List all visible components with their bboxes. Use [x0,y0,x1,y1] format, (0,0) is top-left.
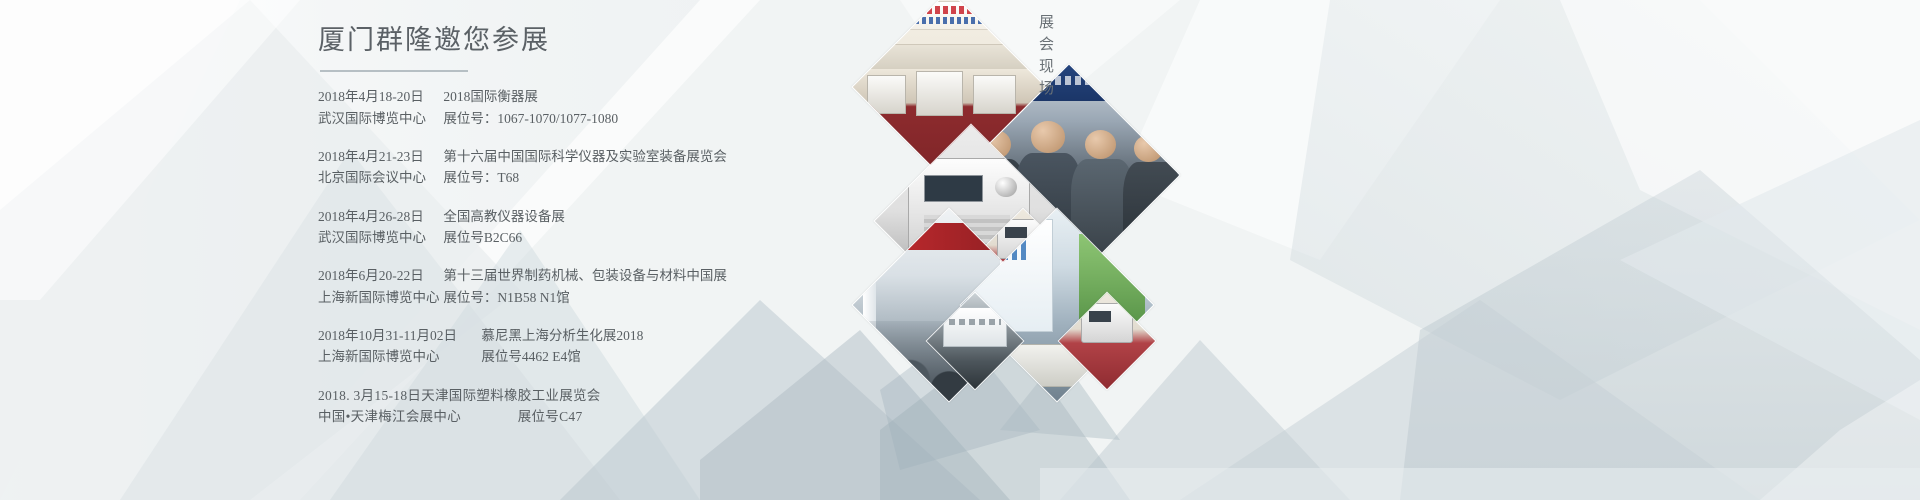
event-venue: 上海新国际博览中心 [318,346,478,367]
page-title: 厦门群隆邀您参展 [318,22,938,66]
event-name: 慕尼黑上海分析生化展2018 [481,325,643,346]
event-venue: 中国•天津梅江会展中心 [318,406,514,427]
event-line-date-name: 2018年4月26-28日 全国高教仪器设备展 [318,206,938,227]
event-name: 第十三届世界制药机械、包装设备与材料中国展 [443,265,727,286]
event-date: 2018年4月18-20日 [318,86,440,107]
event-line-venue-booth: 武汉国际博览中心 展位号：1067-1070/1077-1080 [318,108,938,129]
title-underline [320,70,468,72]
event-booth: 展位号：1067-1070/1077-1080 [443,108,618,129]
event-item: 2018年10月31-11月02日 慕尼黑上海分析生化展2018 上海新国际博览… [318,325,938,368]
event-item: 2018年4月26-28日 全国高教仪器设备展 武汉国际博览中心 展位号B2C6… [318,206,938,249]
event-item: 2018年4月18-20日 2018国际衡器展 武汉国际博览中心 展位号：106… [318,86,938,129]
events-text-column: 厦门群隆邀您参展 2018年4月18-20日 2018国际衡器展 武汉国际博览中… [318,22,938,444]
event-booth: 展位号B2C66 [443,227,522,248]
event-booth: 展位号4462 E4馆 [481,346,580,367]
event-line-date-name: 2018年4月18-20日 2018国际衡器展 [318,86,938,107]
event-date: 2018年4月26-28日 [318,206,440,227]
vertical-caption: 展会现场 [1035,14,1056,102]
event-line-date-name: 2018年6月20-22日 第十三届世界制药机械、包装设备与材料中国展 [318,265,938,286]
event-booth: 展位号：N1B58 N1馆 [443,287,569,308]
event-date: 2018年10月31-11月02日 [318,325,478,346]
event-booth: 展位号C47 [518,406,583,427]
event-line-date-name: 2018年4月21-23日 第十六届中国国际科学仪器及实验室装备展览会 [318,146,938,167]
event-line-venue-booth: 上海新国际博览中心 展位号：N1B58 N1馆 [318,287,938,308]
event-item: 2018年6月20-22日 第十三届世界制药机械、包装设备与材料中国展 上海新国… [318,265,938,308]
event-date: 2018年6月20-22日 [318,265,440,286]
event-date: 2018年4月21-23日 [318,146,440,167]
event-name: 第十六届中国国际科学仪器及实验室装备展览会 [443,146,727,167]
event-line-venue-booth: 北京国际会议中心 展位号：T68 [318,167,938,188]
event-name: 2018国际衡器展 [443,86,538,107]
event-line-venue-booth: 上海新国际博览中心 展位号4462 E4馆 [318,346,938,367]
event-venue: 武汉国际博览中心 [318,108,440,129]
event-line-date-name: 2018年10月31-11月02日 慕尼黑上海分析生化展2018 [318,325,938,346]
event-line-venue-booth: 武汉国际博览中心 展位号B2C66 [318,227,938,248]
event-item: 2018年4月21-23日 第十六届中国国际科学仪器及实验室装备展览会 北京国际… [318,146,938,189]
event-booth: 展位号：T68 [443,167,519,188]
event-item-last: 2018. 3月15-18日天津国际塑料橡胶工业展览会 中国•天津梅江会展中心 … [318,385,938,428]
event-venue: 北京国际会议中心 [318,167,440,188]
exhibition-banner: 厦门群隆邀您参展 2018年4月18-20日 2018国际衡器展 武汉国际博览中… [0,0,1920,500]
event-title-line: 2018. 3月15-18日天津国际塑料橡胶工业展览会 [318,385,938,406]
event-venue: 武汉国际博览中心 [318,227,440,248]
event-name: 全国高教仪器设备展 [443,206,565,227]
event-venue: 上海新国际博览中心 [318,287,440,308]
event-line-venue-booth: 中国•天津梅江会展中心 展位号C47 [318,406,938,427]
